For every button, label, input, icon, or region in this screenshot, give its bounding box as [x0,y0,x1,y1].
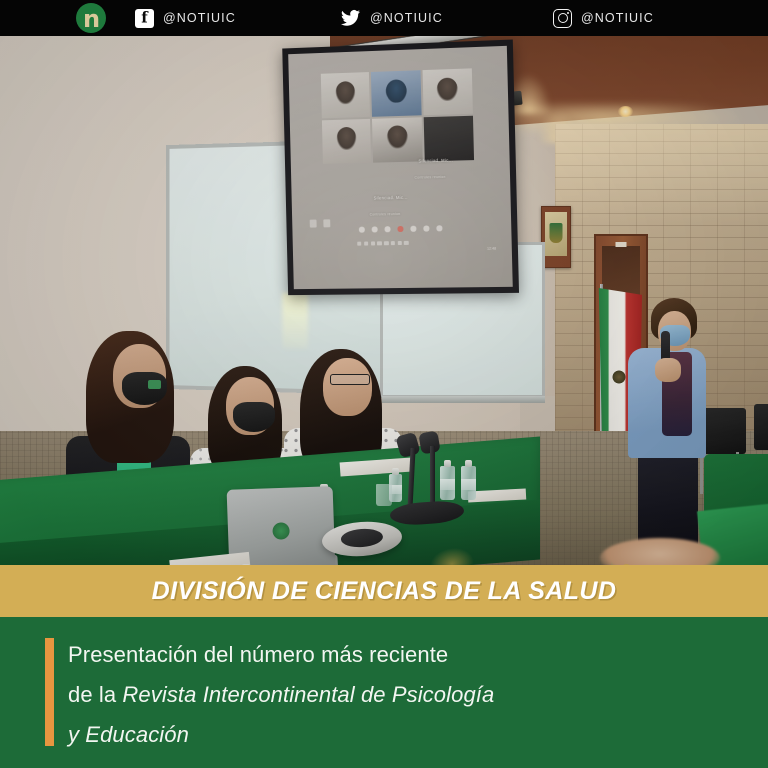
caption-line-2-title: Revista Intercontinental de Psicología [122,682,494,707]
screen-label: Silenciad. Mic... [418,158,453,164]
whiteboard-tray [382,396,545,403]
social-bar: n @NOTIUIC @NOTIUIC @NOTIUIC [0,0,768,36]
flag-crest [613,371,626,384]
presenter-hands [655,358,681,382]
screen-desktop-icons [309,219,330,227]
panelist-right-head [323,358,372,416]
wall-plaque [541,206,571,268]
caption-line-1: Presentación del número más reciente [68,642,448,667]
screen-label: Controles reunion [415,175,446,180]
instagram-icon [553,9,572,28]
division-banner: DIVISIÓN DE CIENCIAS DE LA SALUD [0,565,768,617]
drinking-glass [376,484,392,506]
panelist-center-face-mask [233,402,275,432]
laptop-logo [272,522,290,540]
caption-panel: Presentación del número más reciente de … [0,617,768,768]
chair [754,404,768,450]
division-title: DIVISIÓN DE CIENCIAS DE LA SALUD [152,577,617,606]
participant-tile [321,72,370,118]
mask-logo [148,380,161,389]
caption-line-3-title: y Educación [68,722,189,747]
instagram-handle: @NOTIUIC [581,11,654,25]
event-photo: Silenciad. Mic... Controles reunion Sile… [0,36,768,565]
screen-label: Controles reunion [370,212,401,217]
plaque-inner [545,212,567,256]
caption-line-2-prefix: de la [68,682,122,707]
accent-bar [45,638,54,746]
social-media-post: n @NOTIUIC @NOTIUIC @NOTIUIC [0,0,768,768]
water-bottle [440,466,455,500]
participant-tile [371,71,421,117]
social-link-instagram[interactable]: @NOTIUIC [553,0,654,36]
twitter-handle: @NOTIUIC [370,11,443,25]
twitter-icon [340,9,361,28]
plaque-crest [550,223,563,243]
notiuic-n-logo[interactable]: n [76,3,106,33]
participant-tile [422,69,473,115]
cabinet-tag [616,242,627,247]
panelist-right-glasses [330,374,370,385]
caption-text: Presentación del número más reciente de … [68,635,628,755]
ceiling-downlight [618,106,633,117]
screen-surface: Silenciad. Mic... Controles reunion Sile… [282,40,519,296]
facebook-handle: @NOTIUIC [163,11,236,25]
screen-clock: 12:48 [487,246,496,250]
facebook-icon [135,9,154,28]
participant-tile [322,118,371,163]
participant-tile [423,115,474,161]
participant-tile [372,117,422,163]
water-bottle [461,466,476,500]
screen-label: Silenciad. Mic... [373,195,407,201]
social-link-twitter[interactable]: @NOTIUIC [340,0,443,36]
screen-call-toolbar [359,223,442,235]
brand-letter: n [83,7,99,31]
video-call-grid [321,69,474,164]
microphone-stand [430,446,435,510]
screen-taskbar [357,239,418,248]
table-emblem [430,546,474,565]
chair-leg [700,452,703,494]
whiteboard-glare [282,293,308,349]
social-link-facebook[interactable]: @NOTIUIC [135,0,236,36]
projection-screen: Silenciad. Mic... Controles reunion Sile… [282,40,519,296]
